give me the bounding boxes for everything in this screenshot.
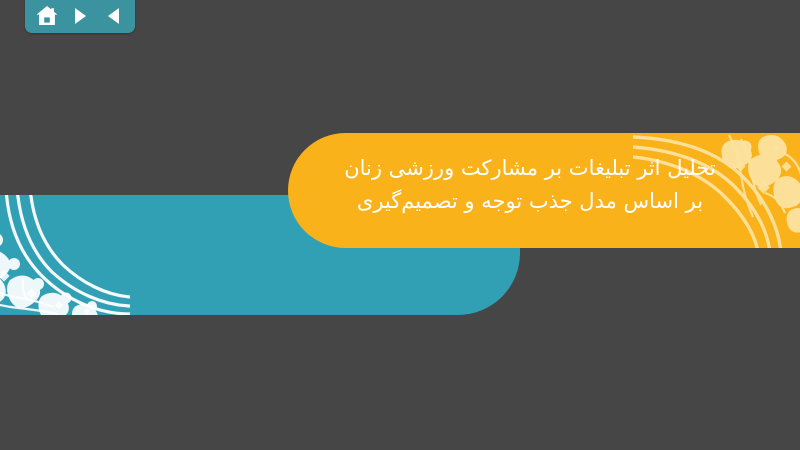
presentation-slide: تحلیل اثر تبلیغات بر مشارکت ورزشی زنان ب… [0,0,800,450]
forward-button[interactable] [67,4,93,28]
home-button[interactable] [34,4,60,28]
forward-triangle-icon [72,7,89,25]
title-line-1: تحلیل اثر تبلیغات بر مشارکت ورزشی زنان [300,152,760,185]
title-line-2: بر اساس مدل جذب توجه و تصمیم‌گیری [300,185,760,218]
slide-title: تحلیل اثر تبلیغات بر مشارکت ورزشی زنان ب… [300,152,760,218]
teal-arabesque-ornament-icon [0,195,130,315]
home-icon [36,6,58,26]
navigation-bar [25,0,135,33]
back-button[interactable] [100,4,126,28]
back-triangle-icon [105,7,122,25]
